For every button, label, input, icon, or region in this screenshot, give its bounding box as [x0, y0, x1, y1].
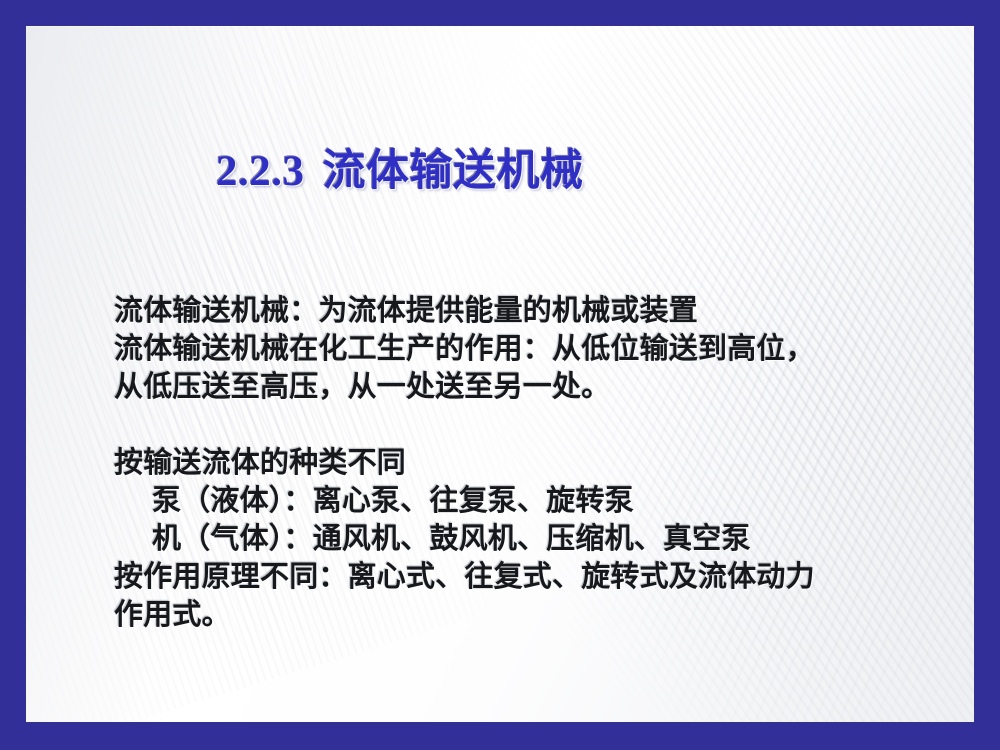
slide-title-number: 2.2.3 [216, 148, 305, 195]
slide-title: 2.2.3流体输送机械 [216, 148, 584, 195]
body-paragraph-spacer [114, 406, 940, 444]
body-item-pump: 泵（液体）：离心泵、往复泵、旋转泵 [114, 482, 940, 520]
body-line-definition: 流体输送机械：为流体提供能量的机械或装置 [114, 292, 940, 330]
slide-body: 流体输送机械：为流体提供能量的机械或装置 流体输送机械在化工生产的作用：从低位输… [114, 292, 940, 634]
slide-title-text: 流体输送机械 [323, 148, 584, 195]
body-heading-by-fluid-type: 按输送流体的种类不同 [114, 444, 940, 482]
body-item-machine: 机（气体）：通风机、鼓风机、压缩机、真空泵 [114, 520, 940, 558]
body-line-role-1: 流体输送机械在化工生产的作用：从低位输送到高位， [114, 330, 940, 368]
body-line-by-principle-1: 按作用原理不同：离心式、往复式、旋转式及流体动力 [114, 558, 940, 596]
body-line-by-principle-2: 作用式。 [114, 596, 940, 634]
body-line-role-2: 从低压送至高压，从一处送至另一处。 [114, 368, 940, 406]
slide-frame: 2.2.3流体输送机械 流体输送机械：为流体提供能量的机械或装置 流体输送机械在… [0, 0, 1000, 750]
slide-content-panel: 2.2.3流体输送机械 流体输送机械：为流体提供能量的机械或装置 流体输送机械在… [26, 26, 974, 722]
